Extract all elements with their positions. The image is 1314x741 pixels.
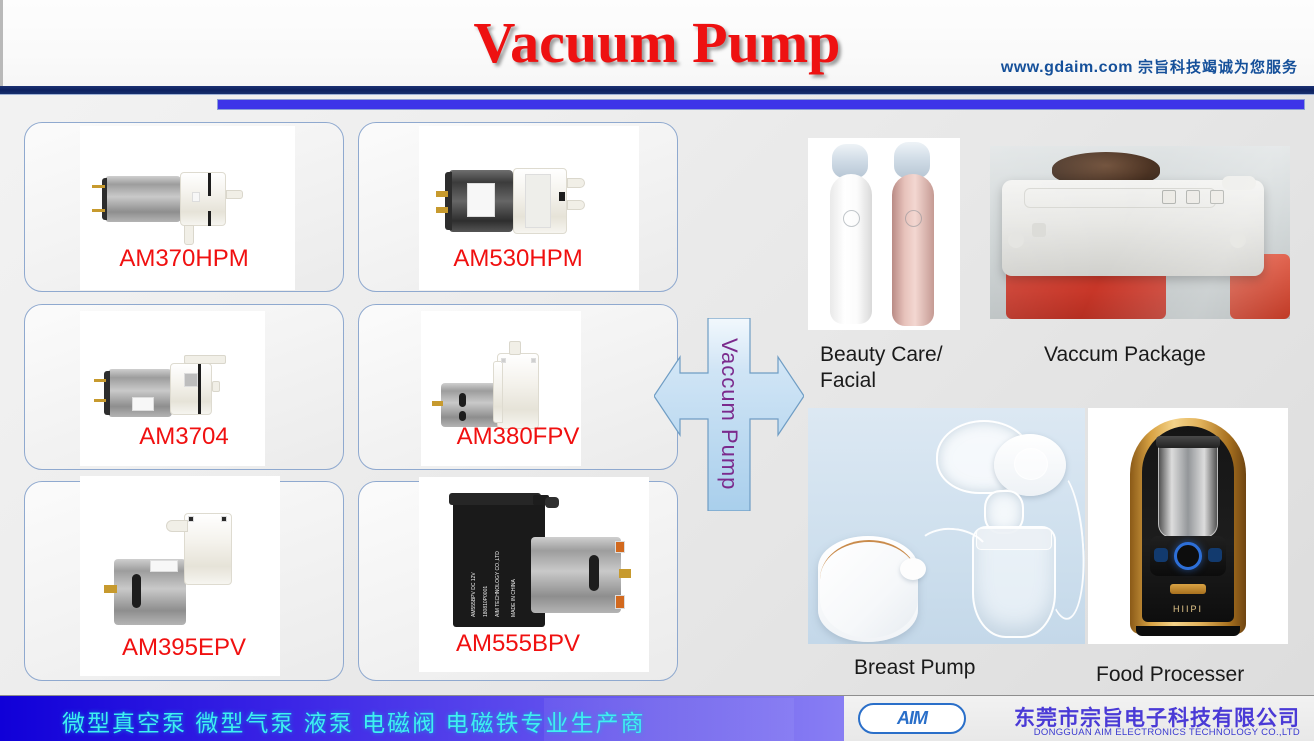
product-card-am370hpm[interactable]: AM370HPM bbox=[24, 122, 344, 292]
nameplate-line-4: MADE IN CHINA bbox=[511, 579, 517, 617]
aim-logo-text: AIM bbox=[897, 708, 927, 729]
blue-accent-bar bbox=[218, 100, 1304, 109]
beauty-care-devices-photo bbox=[808, 138, 960, 330]
product-label: AM530HPM bbox=[359, 245, 677, 273]
company-name-en: DONGGUAN AIM ELECTRONICS TECHNOLOGY CO.,… bbox=[1034, 727, 1300, 738]
website-tagline: www.gdaim.com 宗旨科技竭诚为您服务 bbox=[1001, 56, 1298, 77]
nameplate-line-2: 180810P0001 bbox=[483, 586, 489, 617]
processor-brand-mark: HIIPI bbox=[1088, 604, 1288, 614]
product-label: AM3704 bbox=[25, 423, 343, 451]
breast-pump-photo bbox=[808, 408, 1085, 644]
navy-divider-bar bbox=[0, 86, 1314, 95]
product-label: AM555BPV bbox=[359, 630, 677, 658]
footer-keywords: 微型真空泵 微型气泵 液泵 电磁阀 电磁铁专业生产商 bbox=[62, 704, 646, 738]
website-url: www.gdaim.com bbox=[1001, 59, 1133, 76]
product-card-am555bpv[interactable]: AM555BPV DC 12V 180810P0001 AIM TECHNOLO… bbox=[358, 481, 678, 681]
slide-canvas: Vacuum Pump www.gdaim.com 宗旨科技竭诚为您服务 AM3… bbox=[0, 0, 1314, 741]
footer-bar: 微型真空泵 微型气泵 液泵 电磁阀 电磁铁专业生产商 AIM 东莞市宗旨电子科技… bbox=[0, 695, 1314, 741]
vacuum-pump-arrow-callout: Vaccum Pump bbox=[654, 318, 804, 511]
product-label: AM395EPV bbox=[25, 634, 343, 662]
callout-text-wrap: Vaccum Pump bbox=[654, 318, 804, 511]
product-card-am395epv[interactable]: AM395EPV bbox=[24, 481, 344, 681]
food-processor-photo: HIIPI bbox=[1088, 408, 1288, 644]
website-tagline-cn: 宗旨科技竭诚为您服务 bbox=[1138, 59, 1298, 76]
callout-label: Vaccum Pump bbox=[716, 338, 742, 490]
product-card-am380fpv[interactable]: AM380FPV bbox=[358, 304, 678, 470]
app-label-vacuum-package: Vaccum Package bbox=[1044, 342, 1264, 368]
nameplate-line-1: AM555BPV DC 12V bbox=[471, 572, 477, 617]
app-label-food-processer: Food Processer bbox=[1096, 662, 1314, 688]
app-label-breast-pump: Breast Pump bbox=[854, 655, 1054, 681]
product-card-am3704[interactable]: AM3704 bbox=[24, 304, 344, 470]
app-label-beauty-care: Beauty Care/ Facial bbox=[820, 342, 1000, 394]
aim-logo: AIM bbox=[858, 703, 966, 734]
vacuum-sealer-photo bbox=[990, 146, 1290, 319]
product-card-am530hpm[interactable]: AM530HPM bbox=[358, 122, 678, 292]
product-label: AM370HPM bbox=[25, 245, 343, 273]
nameplate-line-3: AIM TECHNOLOGY CO.,LTD bbox=[495, 551, 501, 617]
product-label: AM380FPV bbox=[359, 423, 677, 451]
